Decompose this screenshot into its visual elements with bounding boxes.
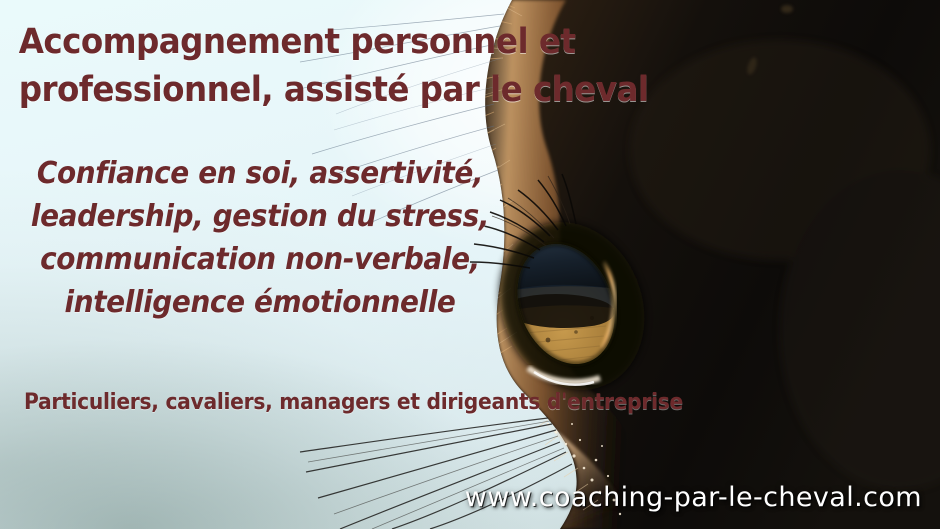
subhead-line-1: Confiance en soi, assertivité,: [18, 152, 502, 195]
banner-image: Accompagnement personnel et professionne…: [0, 0, 940, 529]
subheading: Confiance en soi, assertivité, leadershi…: [18, 152, 502, 324]
subhead-line-2: leadership, gestion du stress,: [18, 195, 502, 238]
text-overlay: Accompagnement personnel et professionne…: [0, 0, 940, 529]
subhead-line-3: communication non-verbale,: [18, 238, 502, 281]
audience-line: Particuliers, cavaliers, managers et dir…: [24, 390, 576, 415]
page-title: Accompagnement personnel et professionne…: [19, 18, 517, 114]
headline-line-2: professionnel, assisté par le cheval: [19, 66, 517, 114]
headline-line-1: Accompagnement personnel et: [19, 18, 517, 66]
website-url[interactable]: www.coaching-par-le-cheval.com: [465, 482, 922, 513]
subhead-line-4: intelligence émotionnelle: [18, 281, 502, 324]
